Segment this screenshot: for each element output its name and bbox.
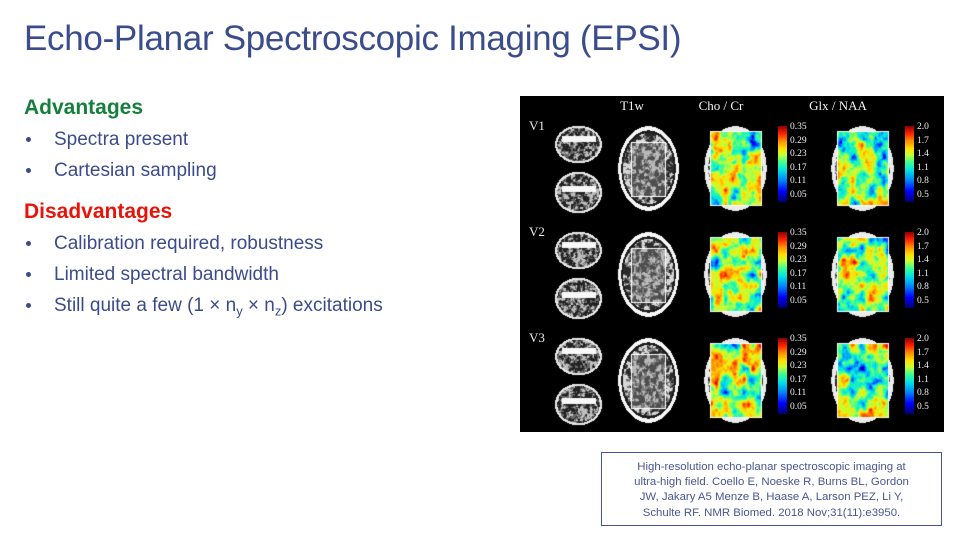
disadvantages-list: Calibration required, robustness Limited…: [22, 228, 512, 327]
list-item: Calibration required, robustness: [22, 228, 512, 259]
figure-row-v3: V3 0.35 0.29 0.23 0.17 0.11 0.05 2.0 1.7…: [520, 330, 944, 430]
bullet-dot-icon: [26, 272, 31, 277]
tick-label: 0.35: [790, 229, 820, 237]
list-item: Limited spectral bandwidth: [22, 259, 512, 290]
row-label-v1: V1: [529, 118, 545, 134]
coronal-image-v3: [550, 382, 606, 426]
tick-label: 1.7: [917, 243, 944, 251]
list-item-label: Spectra present: [54, 129, 188, 150]
tick-label: 0.17: [790, 376, 820, 384]
tick-label: 0.05: [790, 297, 820, 305]
cho-cr-map-v3: [698, 333, 772, 427]
cho-cr-colorbar-v2: [778, 232, 787, 308]
list-item-excitations: Still quite a few (1 × ny × nz) excitati…: [22, 290, 512, 327]
tick-label: 0.5: [917, 297, 944, 305]
bullet-dot-icon: [26, 168, 31, 173]
tick-label: 2.0: [917, 229, 944, 237]
tick-label: 1.4: [917, 362, 944, 370]
tick-label: 0.35: [790, 335, 820, 343]
tick-label: 0.11: [790, 389, 820, 397]
row-label-v2: V2: [529, 224, 545, 240]
tick-label: 0.05: [790, 191, 820, 199]
tick-label: 0.29: [790, 137, 820, 145]
glx-naa-map-v1: [825, 121, 899, 215]
tick-label: 0.8: [917, 283, 944, 291]
axial-t1w-image-v1: [612, 121, 684, 215]
axial-t1w-image-v3: [612, 333, 684, 427]
tick-label: 0.5: [917, 191, 944, 199]
excitations-prefix: Still quite a few (1 × n: [54, 295, 236, 316]
page-title: Echo-Planar Spectroscopic Imaging (EPSI): [24, 17, 681, 61]
axial-t1w-image-v2: [612, 227, 684, 321]
glx-naa-colorbar-ticks-v2: 2.0 1.7 1.4 1.1 0.8 0.5: [917, 229, 944, 305]
tick-label: 0.23: [790, 256, 820, 264]
citation-line: High-resolution echo-planar spectroscopi…: [612, 460, 931, 475]
row-label-v3: V3: [529, 330, 545, 346]
tick-label: 2.0: [917, 123, 944, 131]
tick-label: 0.35: [790, 123, 820, 131]
tick-label: 0.05: [790, 403, 820, 411]
list-item-label: Cartesian sampling: [54, 160, 217, 181]
tick-label: 1.7: [917, 349, 944, 357]
tick-label: 2.0: [917, 335, 944, 343]
tick-label: 0.23: [790, 362, 820, 370]
column-header-glx-naa: Glx / NAA: [802, 98, 874, 114]
bullet-content-column: Advantages Spectra present Cartesian sam…: [22, 94, 512, 339]
tick-label: 0.5: [917, 403, 944, 411]
cho-cr-colorbar-ticks-v3: 0.35 0.29 0.23 0.17 0.11 0.05: [790, 335, 820, 411]
tick-label: 1.4: [917, 150, 944, 158]
column-header-cho-cr: Cho / Cr: [690, 98, 752, 114]
glx-naa-map-v3: [825, 333, 899, 427]
disadvantages-heading: Disadvantages: [24, 198, 512, 225]
sagittal-image-v1: [550, 122, 606, 166]
sagittal-image-v2: [550, 228, 606, 272]
glx-naa-colorbar-v1: [905, 126, 914, 202]
column-header-t1w: T1w: [602, 98, 662, 114]
figure-row-v2: V2 0.35 0.29 0.23 0.17 0.11 0.05 2.0 1.7…: [520, 224, 944, 324]
coronal-image-v1: [550, 170, 606, 214]
cho-cr-map-v1: [698, 121, 772, 215]
figure-row-v1: V1 0.35 0.29 0.23 0.17 0.11 0.05 2.0 1.7…: [520, 118, 944, 218]
bullet-dot-icon: [26, 303, 31, 308]
list-item-label: Limited spectral bandwidth: [54, 264, 279, 285]
tick-label: 0.17: [790, 270, 820, 278]
cho-cr-colorbar-v1: [778, 126, 787, 202]
tick-label: 1.4: [917, 256, 944, 264]
glx-naa-map-v2: [825, 227, 899, 321]
cho-cr-map-v2: [698, 227, 772, 321]
tick-label: 0.11: [790, 177, 820, 185]
advantages-heading: Advantages: [24, 94, 512, 121]
excitations-mid: × n: [243, 295, 275, 316]
bullet-dot-icon: [26, 241, 31, 246]
tick-label: 1.7: [917, 137, 944, 145]
excitations-suffix: ) excitations: [281, 295, 382, 316]
advantages-list: Spectra present Cartesian sampling: [22, 124, 512, 186]
tick-label: 1.1: [917, 164, 944, 172]
list-item-label: Calibration required, robustness: [54, 233, 323, 254]
glx-naa-colorbar-ticks-v3: 2.0 1.7 1.4 1.1 0.8 0.5: [917, 335, 944, 411]
tick-label: 1.1: [917, 270, 944, 278]
tick-label: 0.11: [790, 283, 820, 291]
glx-naa-colorbar-ticks-v1: 2.0 1.7 1.4 1.1 0.8 0.5: [917, 123, 944, 199]
sagittal-image-v3: [550, 334, 606, 378]
glx-naa-colorbar-v3: [905, 338, 914, 414]
bullet-dot-icon: [26, 137, 31, 142]
citation-line: Schulte RF. NMR Biomed. 2018 Nov;31(11):…: [612, 506, 931, 521]
cho-cr-colorbar-v3: [778, 338, 787, 414]
epsi-figure-panel: T1w Cho / Cr Glx / NAA V1 0.35 0.29 0.23…: [520, 96, 944, 432]
list-item: Spectra present: [22, 124, 512, 155]
tick-label: 0.8: [917, 389, 944, 397]
tick-label: 0.23: [790, 150, 820, 158]
citation-line: ultra-high field. Coello E, Noeske R, Bu…: [612, 475, 931, 490]
tick-label: 1.1: [917, 376, 944, 384]
cho-cr-colorbar-ticks-v1: 0.35 0.29 0.23 0.17 0.11 0.05: [790, 123, 820, 199]
tick-label: 0.17: [790, 164, 820, 172]
tick-label: 0.8: [917, 177, 944, 185]
cho-cr-colorbar-ticks-v2: 0.35 0.29 0.23 0.17 0.11 0.05: [790, 229, 820, 305]
citation-box: High-resolution echo-planar spectroscopi…: [601, 452, 942, 526]
tick-label: 0.29: [790, 243, 820, 251]
tick-label: 0.29: [790, 349, 820, 357]
citation-line: JW, Jakary A5 Menze B, Haase A, Larson P…: [612, 490, 931, 505]
list-item: Cartesian sampling: [22, 155, 512, 186]
coronal-image-v2: [550, 276, 606, 320]
glx-naa-colorbar-v2: [905, 232, 914, 308]
